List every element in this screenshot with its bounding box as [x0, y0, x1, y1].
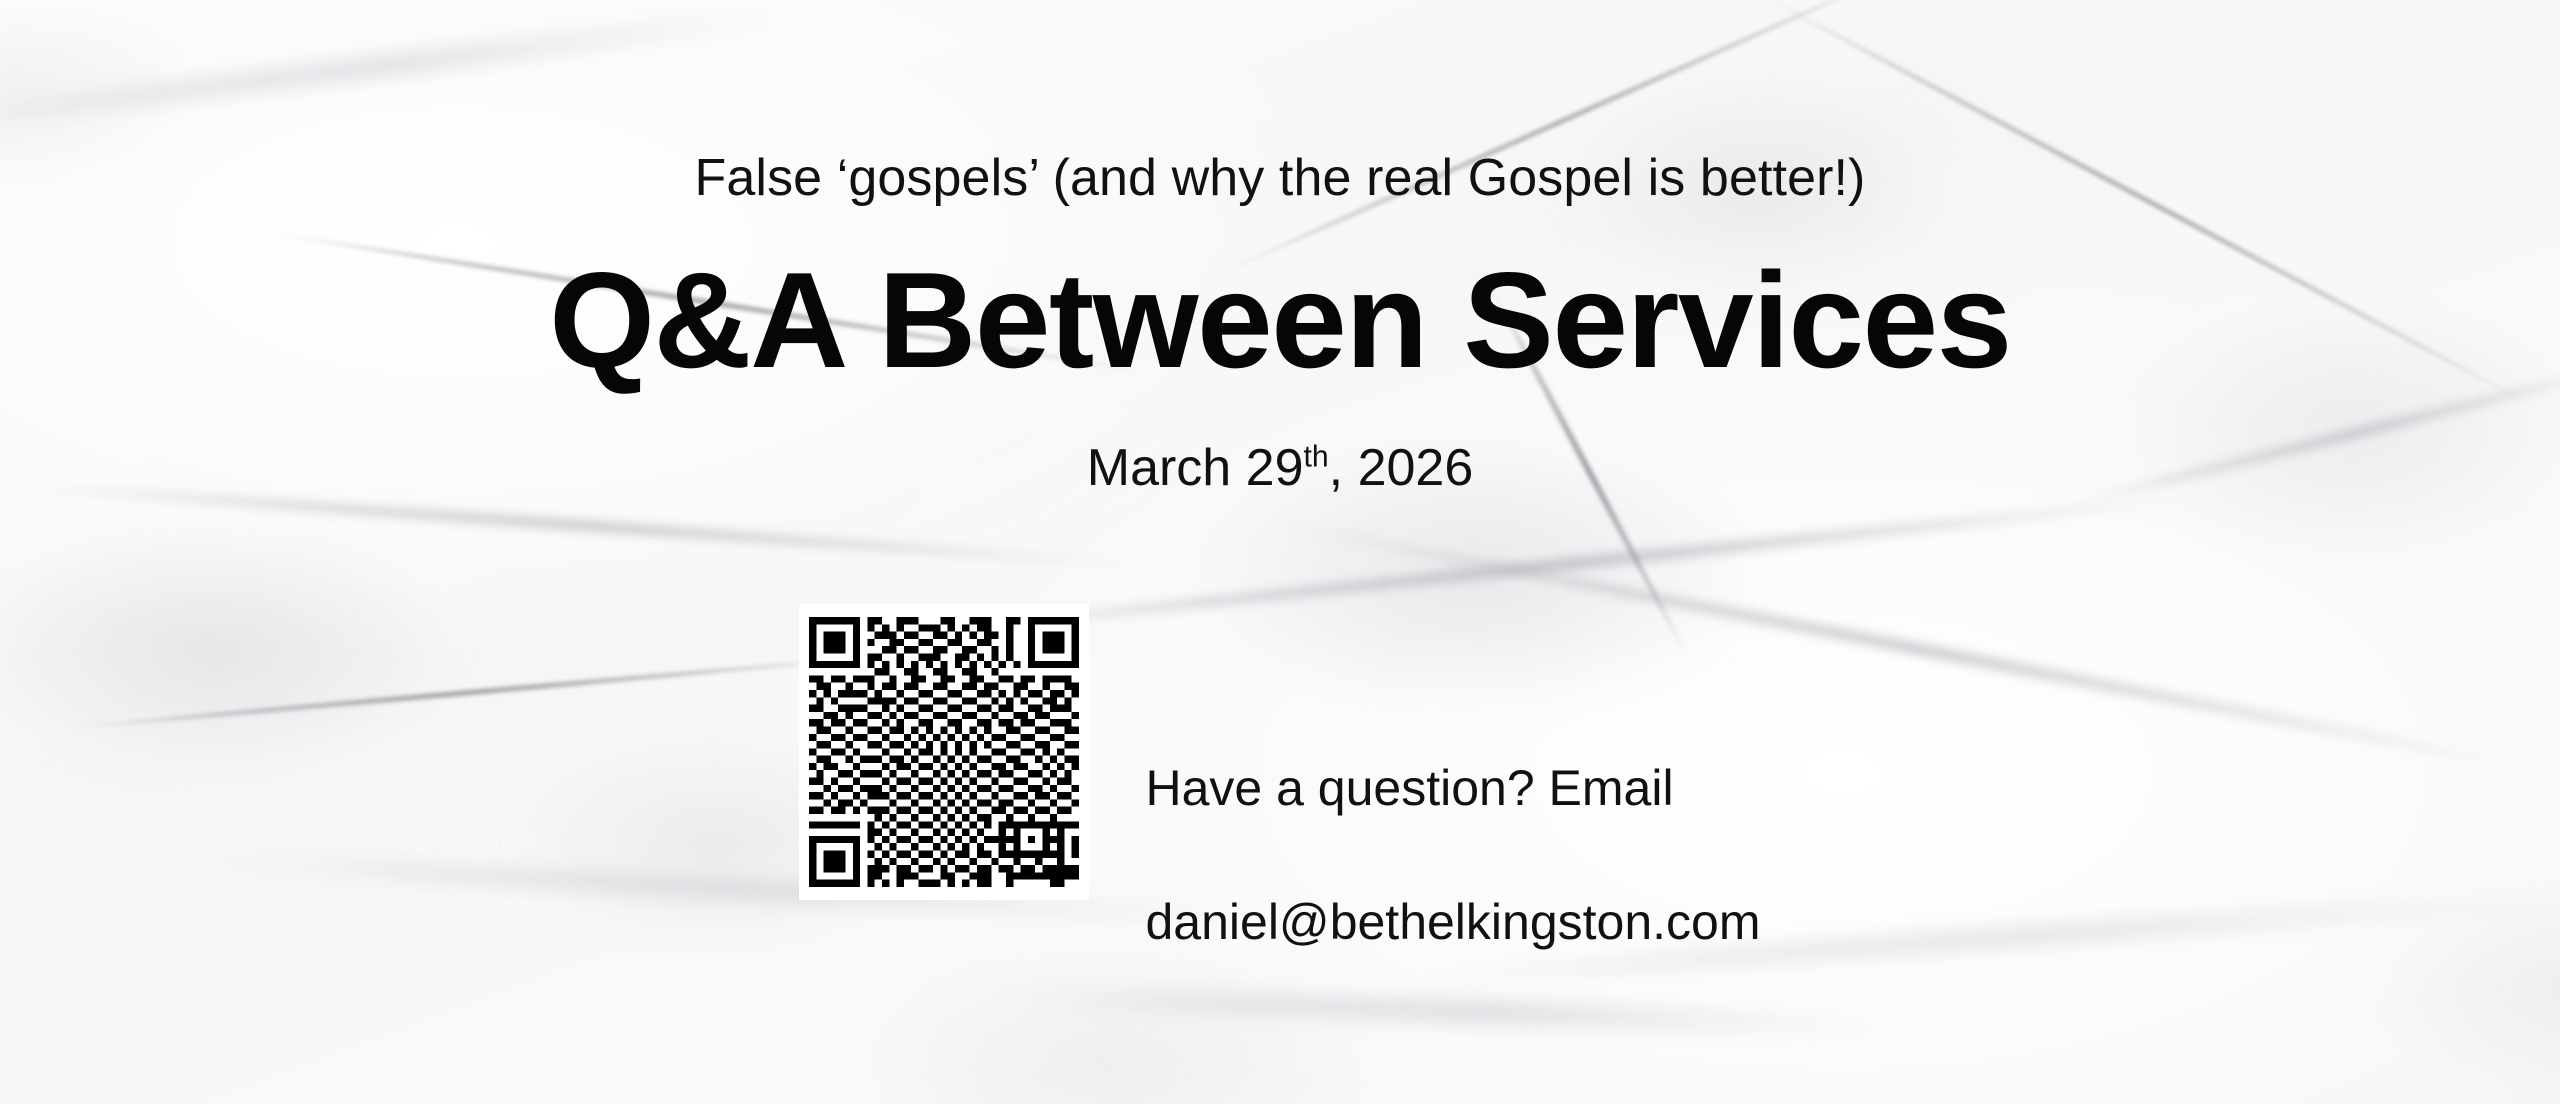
event-date-prefix: March 29	[1087, 439, 1304, 497]
qr-code-image[interactable]	[809, 617, 1079, 887]
slide-content: False ‘gospels’ (and why the real Gospel…	[0, 0, 2560, 1104]
series-subtitle: False ‘gospels’ (and why the real Gospel…	[0, 150, 2560, 207]
event-date-suffix: , 2026	[1329, 439, 1474, 497]
event-date-ordinal: th	[1304, 441, 1329, 474]
slide-canvas: False ‘gospels’ (and why the real Gospel…	[0, 0, 2560, 1104]
contact-prompt: Have a question? Email	[1145, 755, 1760, 822]
event-date: March 29th, 2026	[0, 440, 2560, 497]
contact-email[interactable]: daniel@bethelkingston.com	[1145, 889, 1760, 956]
page-title: Q&A Between Services	[0, 248, 2560, 392]
contact-row: Have a question? Email daniel@bethelking…	[0, 604, 2560, 1023]
qr-code-panel[interactable]	[799, 604, 1089, 900]
contact-text-block: Have a question? Email daniel@bethelking…	[1145, 604, 1760, 1023]
